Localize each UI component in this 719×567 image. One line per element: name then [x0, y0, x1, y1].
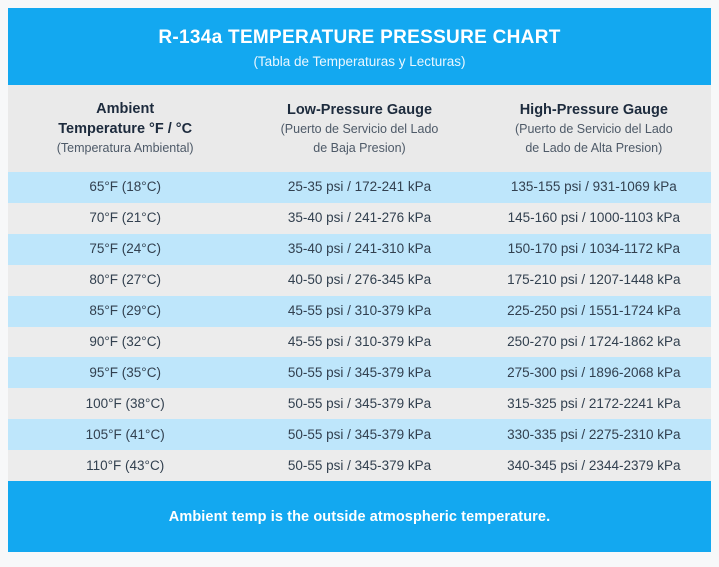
cell-low-pressure: 35-40 psi / 241-276 kPa [242, 209, 476, 227]
table-column-headers: Ambient Temperature °F / °C (Temperatura… [8, 85, 711, 172]
column-header-sub-line-1: (Puerto de Servicio del Lado [515, 120, 673, 139]
cell-high-pressure: 340-345 psi / 2344-2379 kPa [477, 457, 711, 475]
cell-low-pressure: 45-55 psi / 310-379 kPa [242, 333, 476, 351]
cell-ambient-temperature: 70°F (21°C) [8, 209, 242, 227]
cell-low-pressure: 25-35 psi / 172-241 kPa [242, 178, 476, 196]
cell-high-pressure: 145-160 psi / 1000-1103 kPa [477, 209, 711, 227]
table-row: 70°F (21°C)35-40 psi / 241-276 kPa145-16… [8, 203, 711, 234]
table-row: 85°F (29°C)45-55 psi / 310-379 kPa225-25… [8, 296, 711, 327]
cell-high-pressure: 250-270 psi / 1724-1862 kPa [477, 333, 711, 351]
table-row: 110°F (43°C)50-55 psi / 345-379 kPa340-3… [8, 450, 711, 481]
cell-high-pressure: 135-155 psi / 931-1069 kPa [477, 178, 711, 196]
cell-low-pressure: 45-55 psi / 310-379 kPa [242, 302, 476, 320]
column-header-sub-line-2: de Lado de Alta Presion) [525, 139, 662, 158]
table-row: 80°F (27°C)40-50 psi / 276-345 kPa175-21… [8, 265, 711, 296]
cell-ambient-temperature: 105°F (41°C) [8, 426, 242, 444]
cell-ambient-temperature: 90°F (32°C) [8, 333, 242, 351]
column-header-high-pressure-gauge: High-Pressure Gauge (Puerto de Servicio … [477, 85, 711, 172]
table-row: 65°F (18°C)25-35 psi / 172-241 kPa135-15… [8, 172, 711, 203]
cell-low-pressure: 40-50 psi / 276-345 kPa [242, 271, 476, 289]
column-header-sub-line-2: de Baja Presion) [313, 139, 405, 158]
cell-high-pressure: 175-210 psi / 1207-1448 kPa [477, 271, 711, 289]
cell-low-pressure: 50-55 psi / 345-379 kPa [242, 395, 476, 413]
column-header-line-1: High-Pressure Gauge [520, 100, 668, 120]
table-row: 105°F (41°C)50-55 psi / 345-379 kPa330-3… [8, 419, 711, 450]
cell-ambient-temperature: 65°F (18°C) [8, 178, 242, 196]
cell-high-pressure: 315-325 psi / 2172-2241 kPa [477, 395, 711, 413]
table-row: 100°F (38°C)50-55 psi / 345-379 kPa315-3… [8, 388, 711, 419]
footer-note: Ambient temp is the outside atmospheric … [169, 509, 550, 525]
cell-high-pressure: 275-300 psi / 1896-2068 kPa [477, 364, 711, 382]
table-body: 65°F (18°C)25-35 psi / 172-241 kPa135-15… [8, 172, 711, 481]
table-row: 95°F (35°C)50-55 psi / 345-379 kPa275-30… [8, 357, 711, 388]
column-header-low-pressure-gauge: Low-Pressure Gauge (Puerto de Servicio d… [242, 85, 476, 172]
column-header-sub-line-1: (Temperatura Ambiental) [57, 139, 194, 158]
cell-low-pressure: 35-40 psi / 241-310 kPa [242, 240, 476, 258]
pressure-chart-card: R-134a TEMPERATURE PRESSURE CHART (Tabla… [8, 8, 711, 552]
page-title: R-134a TEMPERATURE PRESSURE CHART [158, 27, 560, 49]
cell-ambient-temperature: 100°F (38°C) [8, 395, 242, 413]
cell-ambient-temperature: 75°F (24°C) [8, 240, 242, 258]
cell-low-pressure: 50-55 psi / 345-379 kPa [242, 364, 476, 382]
cell-high-pressure: 330-335 psi / 2275-2310 kPa [477, 426, 711, 444]
pressure-table: Ambient Temperature °F / °C (Temperatura… [8, 85, 711, 481]
table-row: 90°F (32°C)45-55 psi / 310-379 kPa250-27… [8, 327, 711, 358]
cell-low-pressure: 50-55 psi / 345-379 kPa [242, 426, 476, 444]
cell-high-pressure: 225-250 psi / 1551-1724 kPa [477, 302, 711, 320]
column-header-line-2: Temperature °F / °C [58, 119, 192, 139]
column-header-ambient-temperature: Ambient Temperature °F / °C (Temperatura… [8, 85, 242, 172]
cell-low-pressure: 50-55 psi / 345-379 kPa [242, 457, 476, 475]
cell-ambient-temperature: 95°F (35°C) [8, 364, 242, 382]
chart-footer-banner: Ambient temp is the outside atmospheric … [8, 481, 711, 552]
cell-ambient-temperature: 85°F (29°C) [8, 302, 242, 320]
page-background: R-134a TEMPERATURE PRESSURE CHART (Tabla… [0, 0, 719, 567]
cell-ambient-temperature: 80°F (27°C) [8, 271, 242, 289]
cell-high-pressure: 150-170 psi / 1034-1172 kPa [477, 240, 711, 258]
column-header-line-1: Low-Pressure Gauge [287, 100, 432, 120]
chart-title-banner: R-134a TEMPERATURE PRESSURE CHART (Tabla… [8, 8, 711, 85]
page-subtitle: (Tabla de Temperaturas y Lecturas) [253, 52, 465, 72]
cell-ambient-temperature: 110°F (43°C) [8, 457, 242, 475]
column-header-sub-line-1: (Puerto de Servicio del Lado [281, 120, 439, 139]
table-row: 75°F (24°C)35-40 psi / 241-310 kPa150-17… [8, 234, 711, 265]
column-header-line-1: Ambient [96, 99, 154, 119]
